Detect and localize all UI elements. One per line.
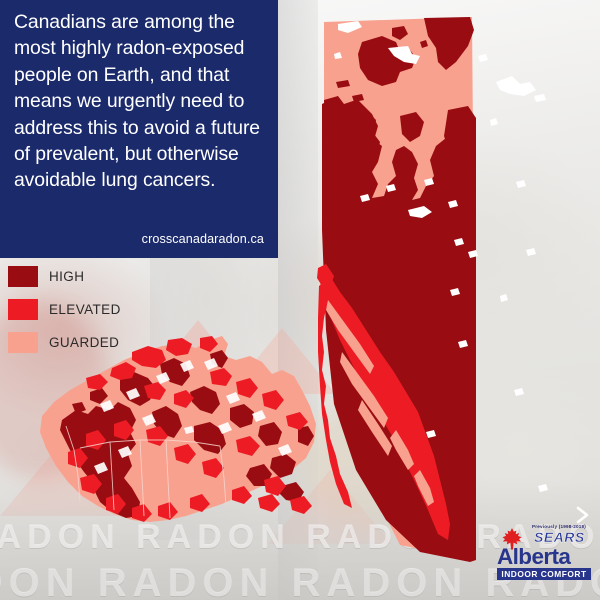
legend-label-high: HIGH [49,269,84,284]
legend-item-high: HIGH [8,260,158,293]
color-swatch-elevated [8,299,38,320]
logo-brand-text: Alberta [497,544,570,570]
logo-sears-text: SEARS [534,529,585,545]
alberta-indoor-comfort-logo[interactable]: Previously (1998-2018) SEARS Alberta IND… [494,524,594,584]
color-swatch-high [8,266,38,287]
legend-label-guarded: GUARDED [49,335,119,350]
canada-map [14,330,324,545]
quote-text: Canadians are among the most highly rado… [14,9,266,194]
color-swatch-guarded [8,332,38,353]
logo-tagline-bar: INDOOR COMFORT [497,568,591,580]
legend-item-elevated: ELEVATED [8,293,158,326]
legend-item-guarded: GUARDED [8,326,158,359]
quote-panel: Canadians are among the most highly rado… [0,0,278,258]
quote-url-link[interactable]: crosscanadaradon.ca [142,232,264,246]
logo-tagline-text: INDOOR COMFORT [497,568,591,580]
legend-label-elevated: ELEVATED [49,302,121,317]
alberta-map [300,0,600,580]
radon-infographic-poster: RADON RADON RADON RADON RADON RADON RADO… [0,0,600,600]
legend: HIGH ELEVATED GUARDED [8,260,158,359]
chevron-right-icon [575,506,591,524]
